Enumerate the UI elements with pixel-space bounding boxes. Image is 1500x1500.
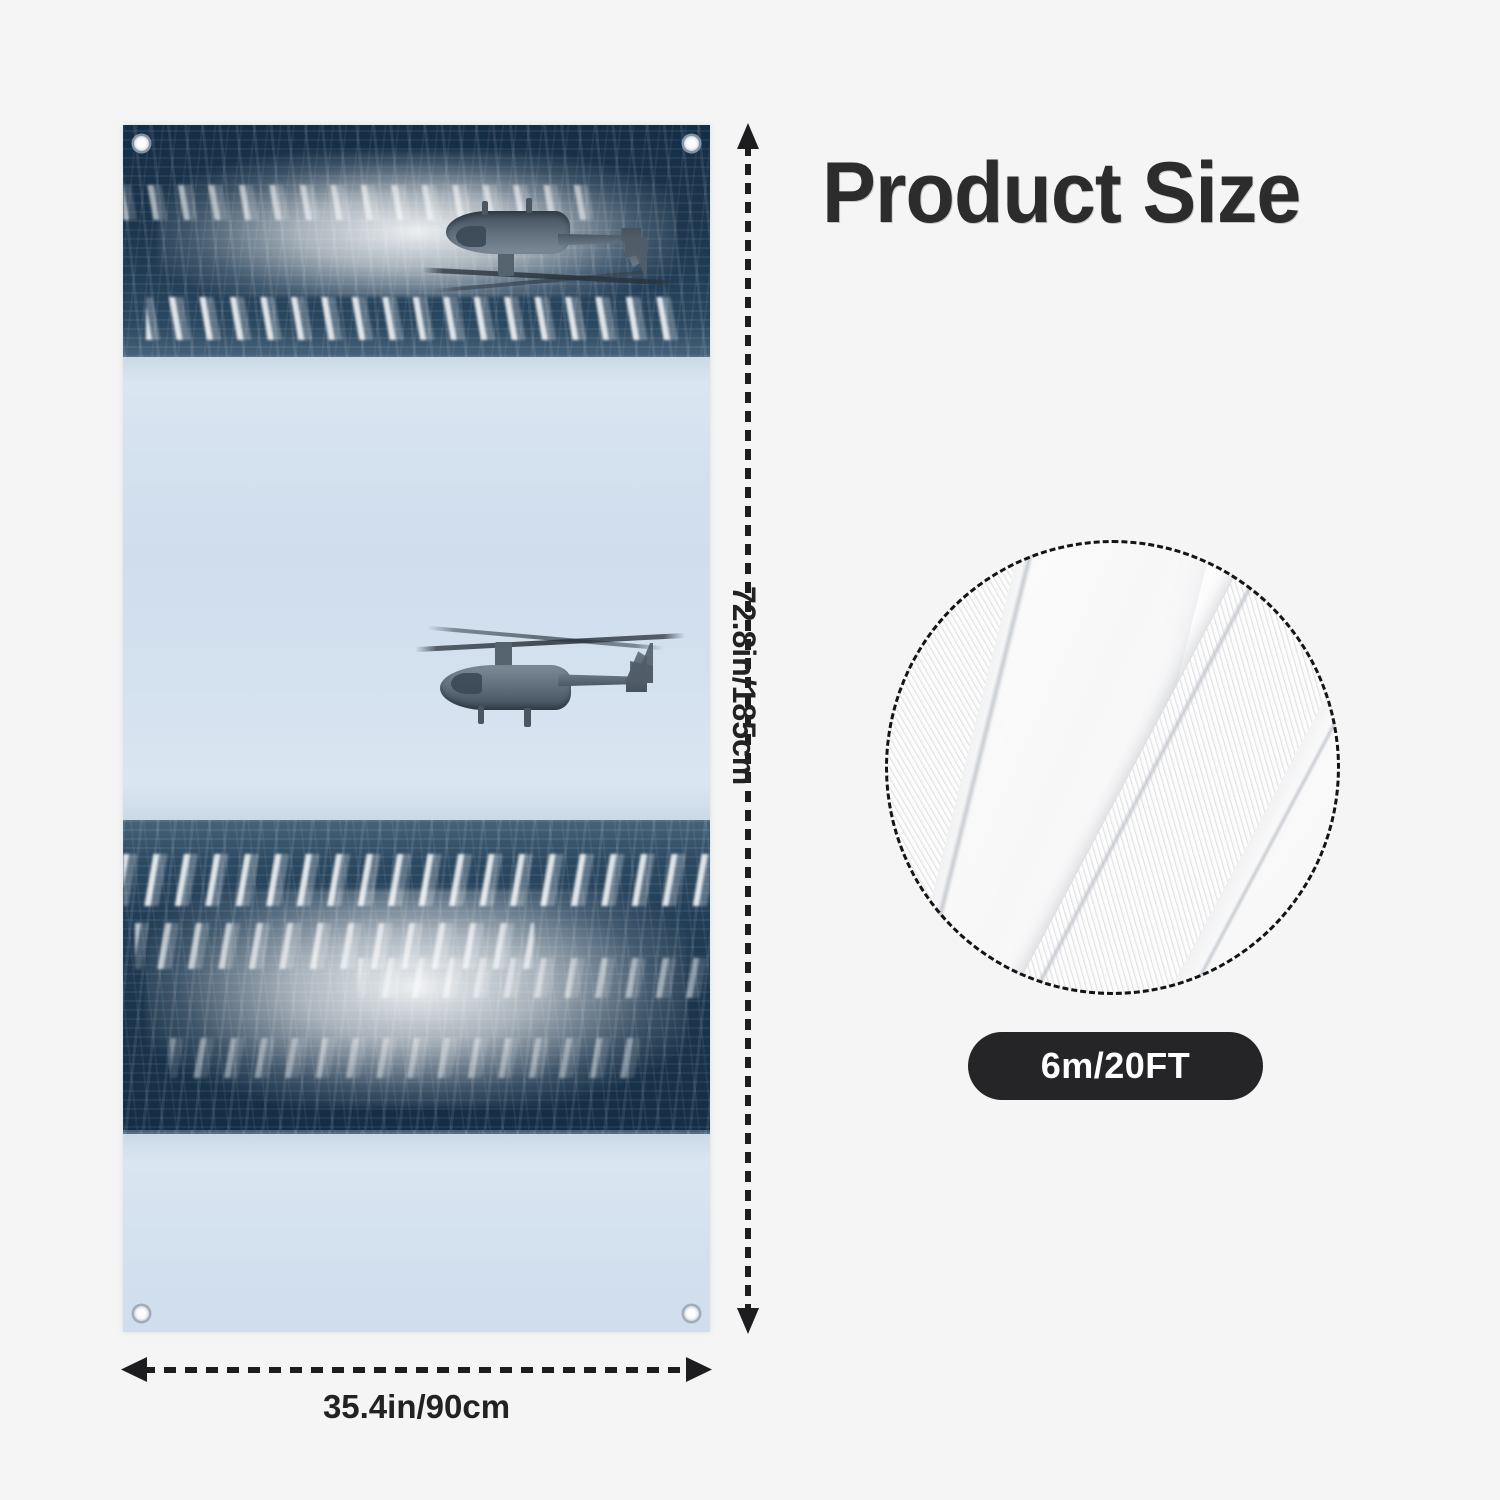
arrow-right-icon: [686, 1357, 712, 1382]
banner-tile-top: [123, 125, 710, 555]
banner-tile-bottom: [123, 1130, 710, 1332]
page-title: Product Size: [822, 150, 1300, 236]
arrow-down-icon: [737, 1308, 759, 1334]
width-dimension-label: 35.4in/90cm: [123, 1388, 710, 1426]
grommet-bottom-left: [134, 1306, 149, 1321]
product-size-infographic: Product Size 72.8in/185cm 35.4in/90cm: [0, 0, 1500, 1500]
rope-length-label: 6m/20FT: [1041, 1045, 1191, 1087]
height-dimension-label: 72.8in/185cm: [725, 586, 762, 785]
banner-tile-middle: [123, 555, 710, 1130]
dashed-line-horizontal: [143, 1367, 690, 1373]
grommet-top-right: [684, 136, 699, 151]
rope-closeup-image: [885, 540, 1340, 995]
product-banner-image: [123, 125, 710, 1332]
rope-length-badge: 6m/20FT: [968, 1032, 1263, 1100]
width-dimension-arrow: [123, 1367, 710, 1373]
grommet-top-left: [134, 136, 149, 151]
grommet-bottom-right: [684, 1306, 699, 1321]
